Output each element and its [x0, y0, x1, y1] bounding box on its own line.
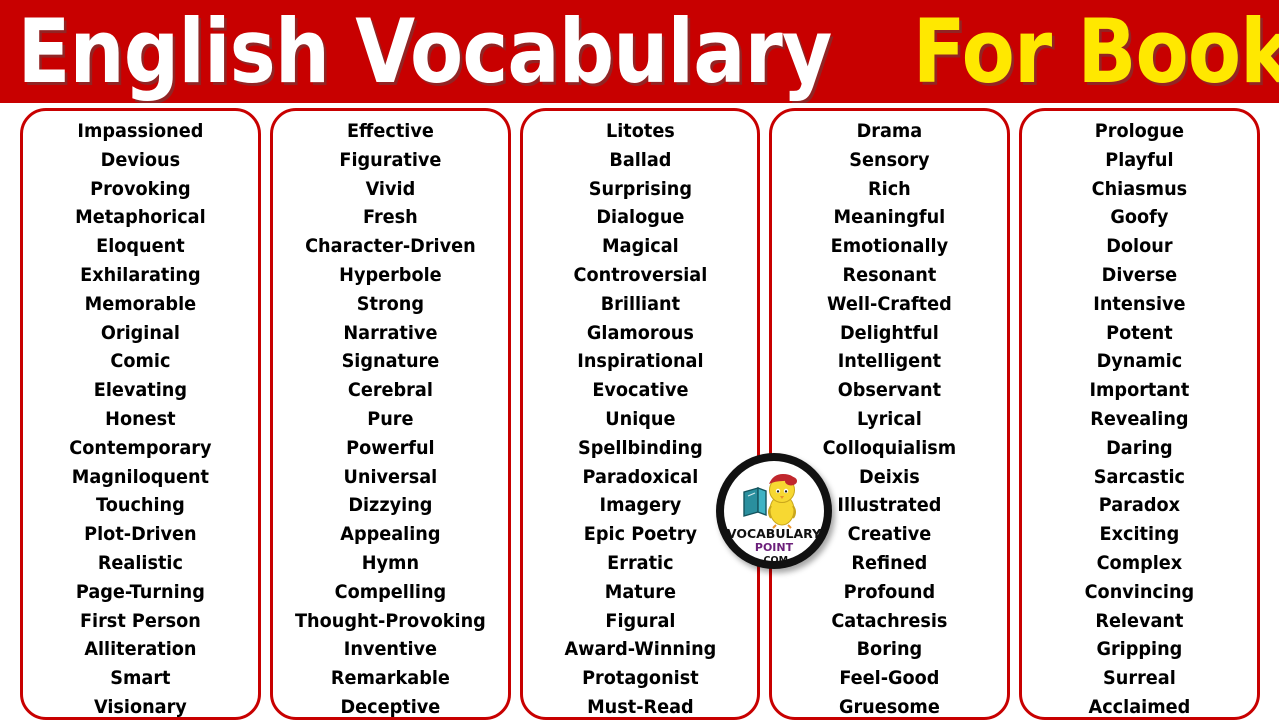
word-item: Must-Read	[531, 693, 749, 720]
word-card-3: LitotesBalladSurprisingDialogueMagicalCo…	[520, 108, 761, 720]
word-item: Devious	[31, 146, 249, 175]
title-primary: English Vocabulary	[18, 6, 832, 98]
word-card-4: DramaSensoryRichMeaningfulEmotionallyRes…	[769, 108, 1010, 720]
word-item: Strong	[281, 290, 499, 319]
word-item: Universal	[281, 463, 499, 492]
word-item: Award-Winning	[531, 635, 749, 664]
vocabulary-point-logo: VOCABULARY POINT .COM	[713, 450, 835, 572]
logo-line-2: POINT	[755, 541, 794, 554]
word-item: Hymn	[281, 549, 499, 578]
word-item: Appealing	[281, 520, 499, 549]
word-item: Mature	[531, 578, 749, 607]
word-item: Surprising	[531, 175, 749, 204]
word-item: Vivid	[281, 175, 499, 204]
word-item: Prologue	[1030, 117, 1248, 146]
book-icon	[744, 488, 766, 516]
word-item: Provoking	[31, 175, 249, 204]
word-columns: ImpassionedDeviousProvokingMetaphoricalE…	[20, 108, 1260, 720]
word-item: Sarcastic	[1030, 463, 1248, 492]
word-item: Dizzying	[281, 491, 499, 520]
word-item: Ballad	[531, 146, 749, 175]
word-item: Remarkable	[281, 664, 499, 693]
word-item: Character-Driven	[281, 232, 499, 261]
word-item: Memorable	[31, 290, 249, 319]
page-title: English Vocabulary For Book	[0, 0, 1279, 103]
word-item: Plot-Driven	[31, 520, 249, 549]
logo-line-1: VOCABULARY	[727, 526, 822, 541]
word-item: Effective	[281, 117, 499, 146]
word-item: Observant	[781, 376, 999, 405]
word-item: Delightful	[781, 319, 999, 348]
word-item: Pure	[281, 405, 499, 434]
header-banner: English Vocabulary For Book	[0, 0, 1279, 103]
word-item: Exciting	[1030, 520, 1248, 549]
word-item: Well-Crafted	[781, 290, 999, 319]
word-item: Contemporary	[31, 434, 249, 463]
word-item: Drama	[781, 117, 999, 146]
word-item: Playful	[1030, 146, 1248, 175]
word-item: Brilliant	[531, 290, 749, 319]
word-item: Smart	[31, 664, 249, 693]
word-item: Intelligent	[781, 347, 999, 376]
title-accent: For Book	[913, 6, 1279, 98]
word-item: Magical	[531, 232, 749, 261]
word-item: Unique	[531, 405, 749, 434]
word-item: Dolour	[1030, 232, 1248, 261]
word-item: Paradox	[1030, 491, 1248, 520]
word-item: Inventive	[281, 635, 499, 664]
word-item: Controversial	[531, 261, 749, 290]
word-item: Honest	[31, 405, 249, 434]
word-item: Important	[1030, 376, 1248, 405]
word-item: Exhilarating	[31, 261, 249, 290]
word-item: Rich	[781, 175, 999, 204]
word-item: Hyperbole	[281, 261, 499, 290]
word-item: Intensive	[1030, 290, 1248, 319]
word-item: Acclaimed	[1030, 693, 1248, 720]
word-card-1: ImpassionedDeviousProvokingMetaphoricalE…	[20, 108, 261, 720]
word-list-1: ImpassionedDeviousProvokingMetaphoricalE…	[23, 117, 258, 720]
word-item: Touching	[31, 491, 249, 520]
word-item: Figurative	[281, 146, 499, 175]
word-list-4: DramaSensoryRichMeaningfulEmotionallyRes…	[772, 117, 1007, 720]
word-item: Impassioned	[31, 117, 249, 146]
word-item: Glamorous	[531, 319, 749, 348]
word-item: Profound	[781, 578, 999, 607]
word-item: Cerebral	[281, 376, 499, 405]
word-list-3: LitotesBalladSurprisingDialogueMagicalCo…	[523, 117, 758, 720]
word-item: Diverse	[1030, 261, 1248, 290]
word-item: Deceptive	[281, 693, 499, 720]
vocabulary-poster: English Vocabulary For Book ImpassionedD…	[0, 0, 1279, 720]
word-item: Compelling	[281, 578, 499, 607]
word-item: Convincing	[1030, 578, 1248, 607]
word-item: Narrative	[281, 319, 499, 348]
word-item: Dynamic	[1030, 347, 1248, 376]
word-item: Gruesome	[781, 693, 999, 720]
word-item: Sensory	[781, 146, 999, 175]
word-item: Boring	[781, 635, 999, 664]
word-item: Comic	[31, 347, 249, 376]
word-card-5: ProloguePlayfulChiasmusGoofyDolourDivers…	[1019, 108, 1260, 720]
word-item: Emotionally	[781, 232, 999, 261]
word-item: Complex	[1030, 549, 1248, 578]
word-item: Alliteration	[31, 635, 249, 664]
word-item: Surreal	[1030, 664, 1248, 693]
word-item: Magniloquent	[31, 463, 249, 492]
word-item: Potent	[1030, 319, 1248, 348]
word-item: Thought-Provoking	[281, 607, 499, 636]
word-item: Chiasmus	[1030, 175, 1248, 204]
word-item: Protagonist	[531, 664, 749, 693]
word-item: Meaningful	[781, 203, 999, 232]
word-item: Visionary	[31, 693, 249, 720]
word-item: Inspirational	[531, 347, 749, 376]
word-item: Elevating	[31, 376, 249, 405]
word-item: Revealing	[1030, 405, 1248, 434]
word-item: Catachresis	[781, 607, 999, 636]
word-item: Goofy	[1030, 203, 1248, 232]
word-item: Daring	[1030, 434, 1248, 463]
word-item: Eloquent	[31, 232, 249, 261]
word-item: First Person	[31, 607, 249, 636]
word-item: Original	[31, 319, 249, 348]
word-card-2: EffectiveFigurativeVividFreshCharacter-D…	[270, 108, 511, 720]
word-item: Evocative	[531, 376, 749, 405]
logo-line-3: .COM	[760, 555, 788, 566]
word-item: Litotes	[531, 117, 749, 146]
word-item: Feel-Good	[781, 664, 999, 693]
word-item: Dialogue	[531, 203, 749, 232]
word-item: Lyrical	[781, 405, 999, 434]
word-item: Page-Turning	[31, 578, 249, 607]
word-item: Relevant	[1030, 607, 1248, 636]
word-item: Fresh	[281, 203, 499, 232]
word-item: Gripping	[1030, 635, 1248, 664]
word-item: Powerful	[281, 434, 499, 463]
word-item: Realistic	[31, 549, 249, 578]
word-list-2: EffectiveFigurativeVividFreshCharacter-D…	[273, 117, 508, 720]
word-item: Resonant	[781, 261, 999, 290]
word-item: Metaphorical	[31, 203, 249, 232]
word-item: Signature	[281, 347, 499, 376]
word-item: Figural	[531, 607, 749, 636]
word-list-5: ProloguePlayfulChiasmusGoofyDolourDivers…	[1022, 117, 1257, 720]
